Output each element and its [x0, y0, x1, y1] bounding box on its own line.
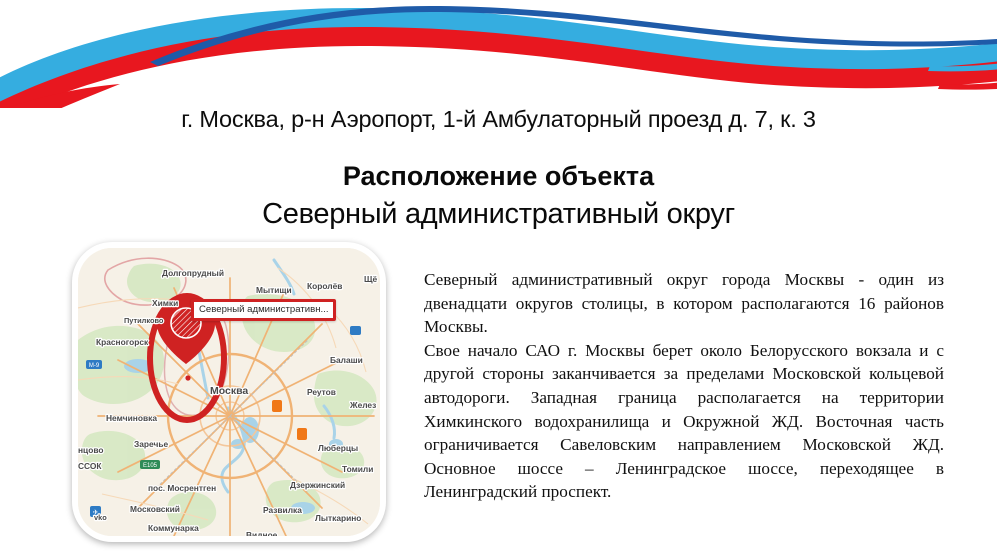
page-title: Расположение объекта: [0, 161, 997, 192]
map-place-label: Щё: [364, 274, 378, 284]
banner-red-tail: [0, 84, 120, 108]
description-text-block: Северный административный округ города М…: [424, 268, 944, 504]
map-place-label: Москва: [210, 385, 248, 397]
map-place-label: Химки: [152, 298, 178, 308]
map-place-label: Красногорск: [96, 337, 149, 347]
map-place-label: Дзержинский: [290, 480, 345, 490]
map-place-label: Томили: [342, 464, 373, 474]
description-paragraph-2: Свое начало САО г. Москвы берет около Бе…: [424, 339, 944, 504]
banner-red-tail-2: [938, 81, 997, 90]
banner-navy-line: [150, 6, 997, 66]
map-place-label: Развилка: [263, 505, 302, 515]
highway-badge-e105: E105: [140, 460, 160, 469]
poi-marker-orange-2: [297, 428, 307, 440]
map-place-label: нцово: [78, 445, 103, 455]
map-place-label: Путилково: [124, 316, 164, 325]
address-line: г. Москва, р-н Аэропорт, 1-й Амбулаторны…: [0, 106, 997, 133]
map-card[interactable]: M-9 E105 ✈: [72, 242, 386, 542]
map-callout-label[interactable]: Северный административн...: [191, 299, 336, 321]
map-place-label: vko: [94, 513, 107, 522]
poi-marker-orange-1: [272, 400, 282, 412]
map-place-label: Королёв: [307, 281, 342, 291]
map-place-label: Московский: [130, 504, 180, 514]
svg-text:E105: E105: [143, 463, 158, 469]
map-place-label: Долгопрудный: [162, 268, 224, 278]
map-place-label: ССОК: [78, 461, 102, 471]
description-paragraph-1: Северный административный округ города М…: [424, 268, 944, 339]
map-place-label: Мытищи: [256, 285, 292, 295]
banner-red-band: [0, 24, 997, 108]
map-place-label: Видное: [246, 530, 278, 536]
russian-flag-banner: [0, 0, 997, 108]
banner-cyan-tail: [928, 62, 997, 71]
map-place-label: Желез: [349, 400, 376, 410]
highway-badge-m9: M-9: [86, 360, 102, 369]
svg-text:M-9: M-9: [89, 363, 100, 369]
map-viewport[interactable]: M-9 E105 ✈: [78, 248, 380, 536]
slide-canvas: г. Москва, р-н Аэропорт, 1-й Амбулаторны…: [0, 0, 997, 560]
map-graphic: M-9 E105 ✈: [78, 248, 380, 536]
map-place-label: Заречье: [134, 439, 168, 449]
banner-cyan-band: [0, 8, 997, 104]
poi-badge-right: [350, 326, 361, 335]
map-place-label: Люберцы: [318, 443, 358, 453]
map-place-label: Коммунарка: [148, 523, 199, 533]
map-place-label: Немчиновка: [106, 413, 157, 423]
map-place-label: Лыткарино: [315, 513, 361, 523]
map-place-label: Балаши: [330, 355, 363, 365]
map-place-label: Реутов: [307, 387, 336, 397]
map-place-label: пос. Мосрентген: [148, 483, 216, 493]
page-subtitle: Северный административный округ: [0, 198, 997, 231]
